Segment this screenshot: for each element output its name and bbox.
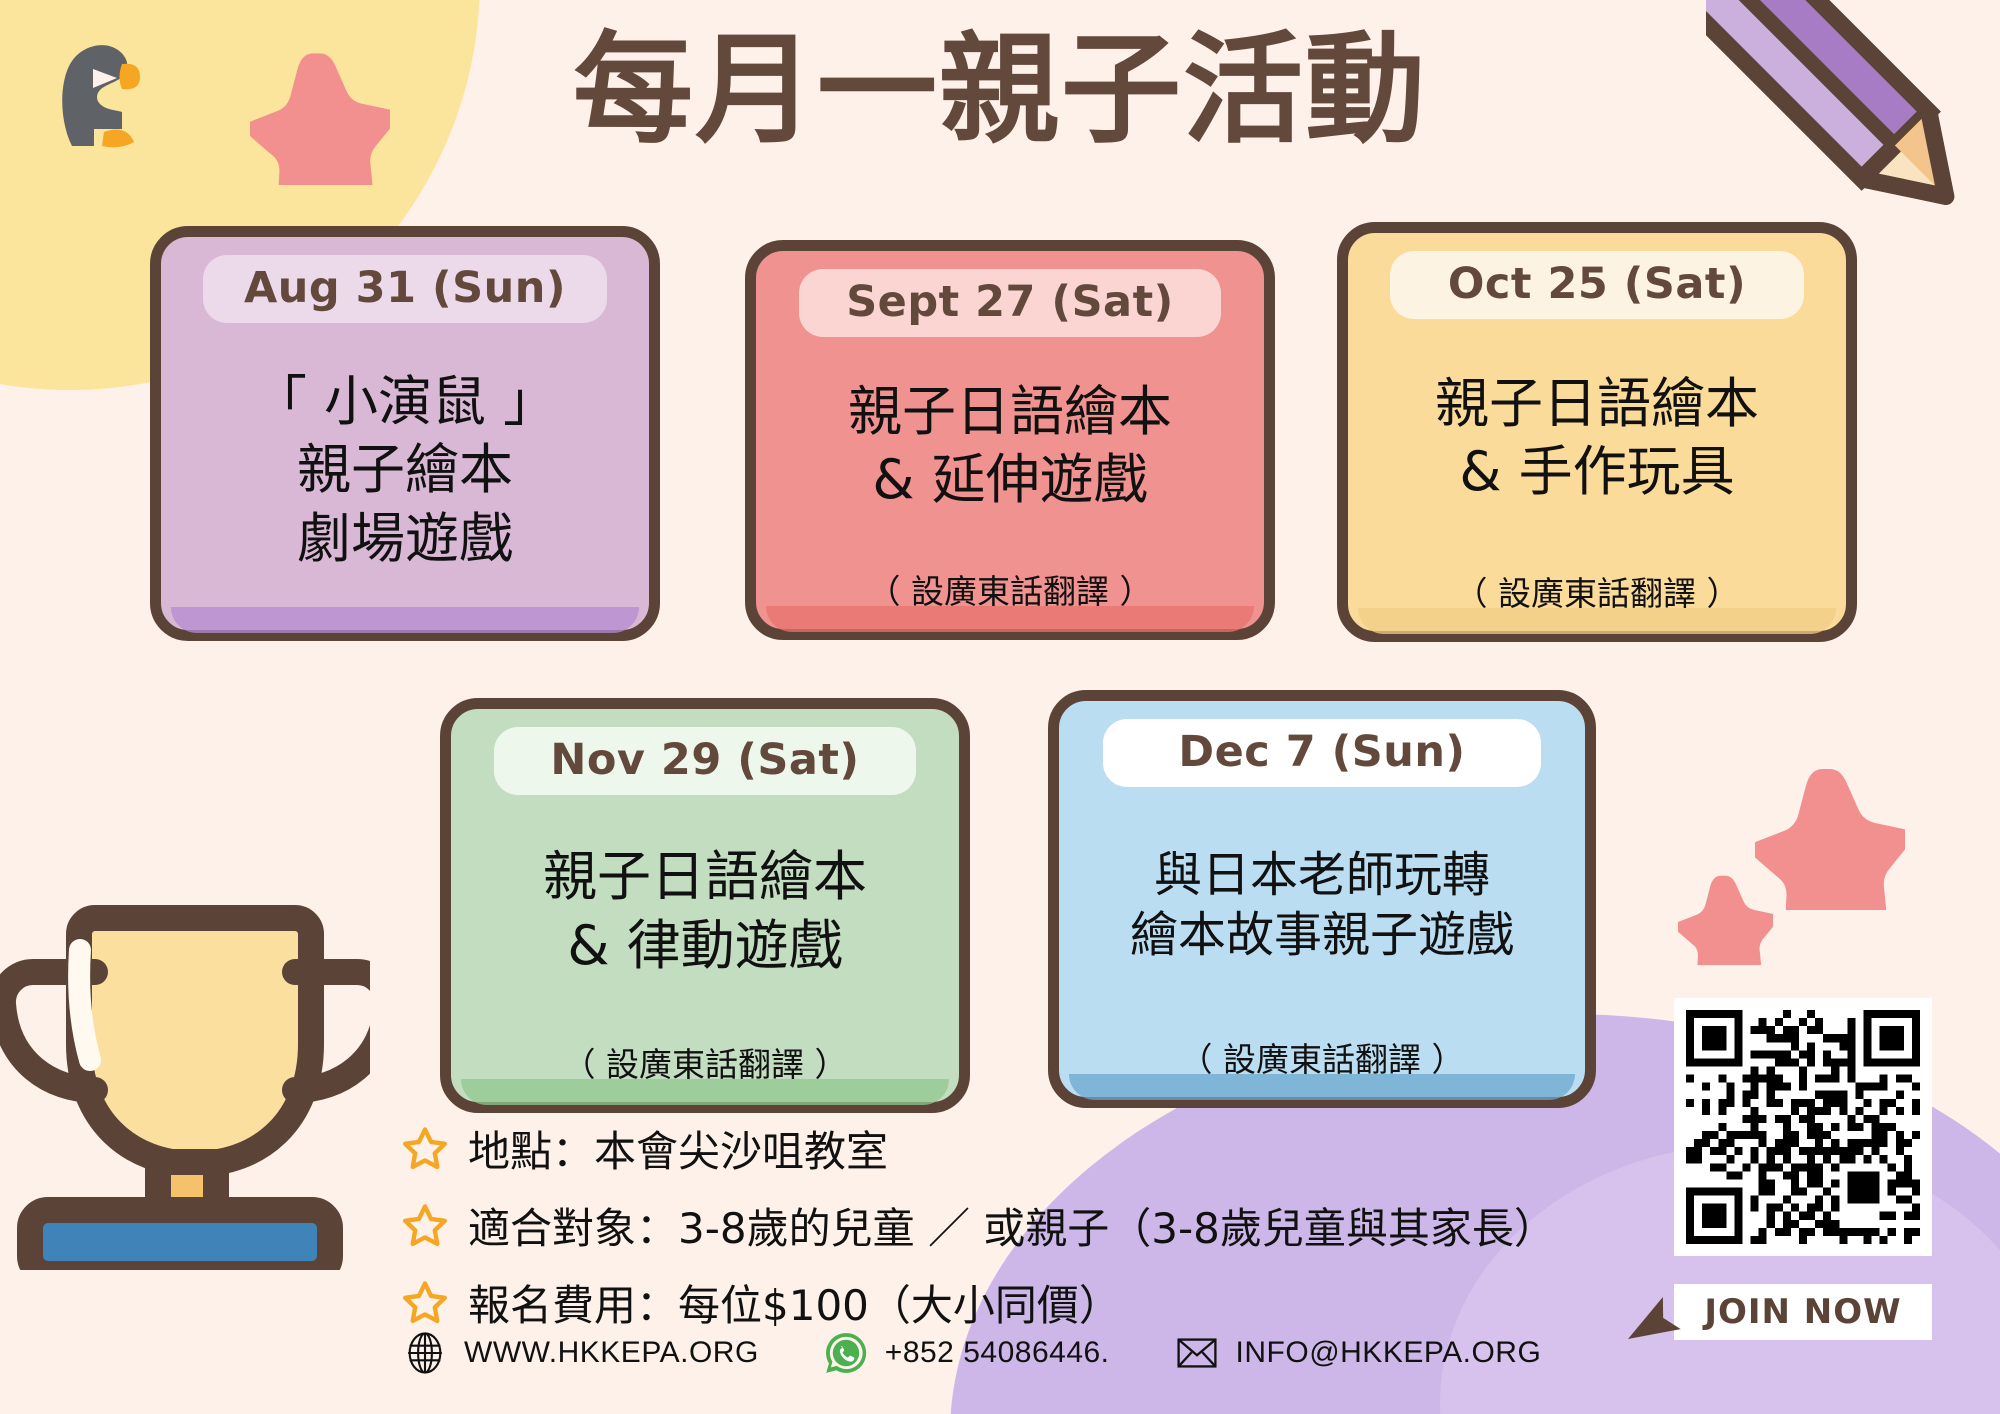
card-shadow — [1069, 1074, 1575, 1100]
contact-website[interactable]: WWW.HKKEPA.ORG — [402, 1330, 759, 1376]
contact-whatsapp[interactable]: +852 54086446. — [823, 1330, 1110, 1376]
event-date-pill: Oct 25 (Sat) — [1390, 251, 1804, 319]
whatsapp-icon — [823, 1330, 869, 1376]
contact-bar: WWW.HKKEPA.ORG +852 54086446. — [402, 1330, 1541, 1376]
event-title-line: 與日本老師玩轉 — [1154, 845, 1490, 905]
event-card[interactable]: Sept 27 (Sat) 親子日語繪本 & 延伸遊戲 （ 設廣東話翻譯 ） — [745, 240, 1275, 640]
globe-icon — [402, 1330, 448, 1376]
info-row: 地點：本會尖沙咀教室 — [400, 1118, 1720, 1179]
event-card-body: 親子日語繪本 & 律動遊戲 — [465, 795, 945, 1028]
page-title: 每月一親子活動 — [0, 24, 2000, 158]
event-title-line: & 律動遊戲 — [567, 912, 842, 980]
info-text: 報名費用：每位$100（大小同價） — [468, 1272, 1121, 1333]
card-shadow — [766, 606, 1254, 632]
info-row: 適合對象：3-8歲的兒童 ／ 或親子（3-8歲兒童與其家長） — [400, 1195, 1720, 1256]
event-title-line: 「 小演鼠 」 — [253, 368, 557, 436]
info-row: 報名費用：每位$100（大小同價） — [400, 1272, 1720, 1333]
card-shadow — [171, 607, 639, 633]
event-title-line: 繪本故事親子遊戲 — [1130, 905, 1514, 965]
qr-code[interactable] — [1674, 998, 1932, 1256]
envelope-icon — [1174, 1330, 1220, 1376]
event-card[interactable]: Nov 29 (Sat) 親子日語繪本 & 律動遊戲 （ 設廣東話翻譯 ） — [440, 698, 970, 1113]
card-shadow — [1358, 608, 1836, 634]
poster-canvas: 每月一親子活動 Aug 31 (Sun) 「 小演鼠 」 親子繪本 劇場遊戲 S… — [0, 0, 2000, 1414]
event-title-line: 劇場遊戲 — [297, 505, 513, 573]
event-date-pill: Dec 7 (Sun) — [1103, 719, 1541, 787]
event-date-pill: Sept 27 (Sat) — [799, 269, 1221, 337]
info-text: 適合對象：3-8歲的兒童 ／ 或親子（3-8歲兒童與其家長） — [468, 1195, 1556, 1256]
event-title-line: & 手作玩具 — [1459, 438, 1734, 506]
event-title-line: 親子日語繪本 — [1435, 370, 1759, 438]
star-icon — [400, 1278, 450, 1328]
whatsapp-text: +852 54086446. — [885, 1336, 1110, 1370]
event-card-body: 親子日語繪本 & 延伸遊戲 — [770, 337, 1250, 555]
star-icon — [400, 1124, 450, 1174]
event-card-body: 「 小演鼠 」 親子繪本 劇場遊戲 — [175, 323, 635, 618]
event-card[interactable]: Dec 7 (Sun) 與日本老師玩轉 繪本故事親子遊戲 （ 設廣東話翻譯 ） — [1048, 690, 1596, 1108]
event-card-body: 與日本老師玩轉 繪本故事親子遊戲 — [1073, 787, 1571, 1023]
contact-email[interactable]: INFO@HKKEPA.ORG — [1174, 1330, 1542, 1376]
event-title-line: & 延伸遊戲 — [872, 446, 1147, 514]
event-title-line: 親子日語繪本 — [848, 378, 1172, 446]
event-date-pill: Nov 29 (Sat) — [494, 727, 916, 795]
event-date-pill: Aug 31 (Sun) — [203, 255, 608, 323]
trophy-decoration — [0, 880, 370, 1270]
event-title-line: 親子繪本 — [297, 436, 513, 504]
event-card[interactable]: Oct 25 (Sat) 親子日語繪本 & 手作玩具 （ 設廣東話翻譯 ） — [1337, 222, 1857, 642]
info-text: 地點：本會尖沙咀教室 — [468, 1118, 888, 1179]
cursor-arrow-icon — [1620, 1290, 1692, 1362]
star-decoration-right-1 — [1755, 760, 1905, 910]
event-card-body: 親子日語繪本 & 手作玩具 — [1362, 319, 1832, 557]
join-now-button[interactable]: JOIN NOW — [1674, 1284, 1932, 1340]
card-shadow — [461, 1079, 949, 1105]
info-list: 地點：本會尖沙咀教室 適合對象：3-8歲的兒童 ／ 或親子（3-8歲兒童與其家長… — [400, 1118, 1720, 1349]
event-card[interactable]: Aug 31 (Sun) 「 小演鼠 」 親子繪本 劇場遊戲 — [150, 226, 660, 641]
star-decoration-right-2 — [1678, 870, 1773, 965]
event-title-line: 親子日語繪本 — [543, 843, 867, 911]
email-text: INFO@HKKEPA.ORG — [1236, 1336, 1542, 1370]
website-text: WWW.HKKEPA.ORG — [464, 1336, 759, 1370]
star-icon — [400, 1201, 450, 1251]
